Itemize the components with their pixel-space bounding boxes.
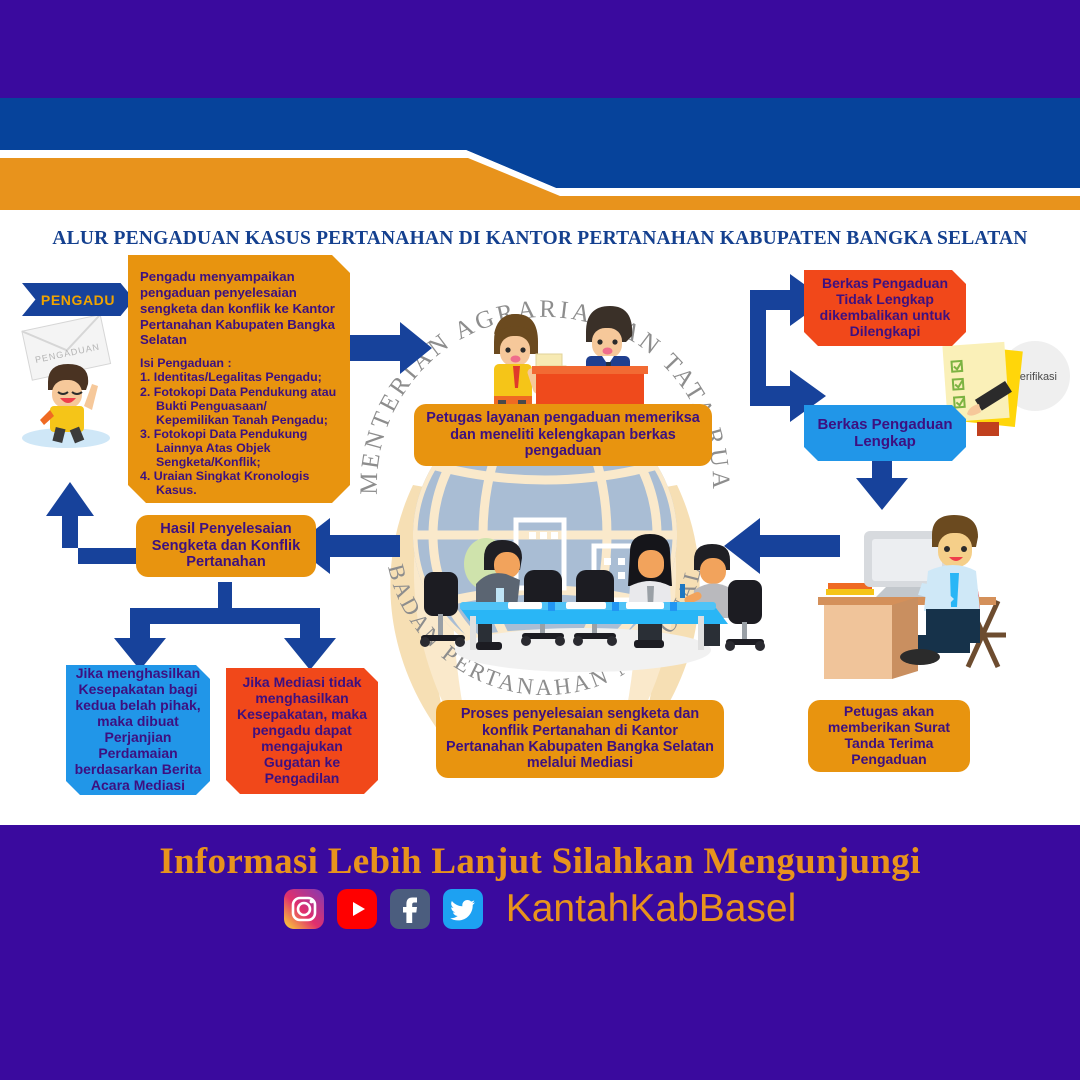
box-kesepakatan: Jika menghasilkan Kesepakatan bagi kedua…: [66, 665, 210, 795]
box-pengadu-list-item-1: 1. Identitas/Legalitas Pengadu;: [140, 370, 338, 384]
box-berkas-lengkap: Berkas Pengaduan Lengkap: [804, 405, 966, 461]
box-petugas-periksa: Petugas layanan pengaduan memeriksa dan …: [414, 404, 712, 466]
social-handle: KantahKabBasel: [506, 887, 797, 931]
box-pengadu-submit: Pengadu menyampaikan pengaduan penyelesa…: [128, 255, 350, 503]
box-pengadu-list-item-3: 3. Fotokopi Data Pendukung Lainnya Atas …: [140, 427, 338, 469]
youtube-icon[interactable]: [337, 889, 377, 929]
illustration-officer-desk: [800, 505, 1030, 685]
box-proses-mediasi: Proses penyelesaian sengketa dan konflik…: [436, 700, 724, 778]
box-berkas-tidak-lengkap: Berkas Pengaduan Tidak Lengkap dikembali…: [804, 270, 966, 346]
header-angled-bands: [0, 98, 1080, 226]
header-purple-band: [0, 0, 1080, 100]
illustration-mediation-meeting: [398, 502, 768, 682]
diagram-canvas: ALUR PENGADUAN KASUS PERTANAHAN DI KANTO…: [0, 210, 1080, 825]
box-pengadu-submit-list-title: Isi Pengaduan :: [140, 356, 338, 370]
box-tidak-kesepakatan: Jika Mediasi tidak menghasilkan Kesepaka…: [226, 668, 378, 794]
instagram-icon[interactable]: [284, 889, 324, 929]
box-petugas-surat: Petugas akan memberikan Surat Tanda Teri…: [808, 700, 970, 772]
twitter-icon[interactable]: [443, 889, 483, 929]
footer-title: Informasi Lebih Lanjut Silahkan Mengunju…: [159, 840, 920, 883]
box-pengadu-list-item-2: 2. Fotokopi Data Pendukung atau Bukti Pe…: [140, 385, 338, 427]
illustration-complainant: PENGADUAN: [8, 310, 128, 450]
box-pengadu-list-item-4: 4. Uraian Singkat Kronologis Kasus.: [140, 469, 338, 497]
box-hasil-penyelesaian: Hasil Penyelesaian Sengketa dan Konflik …: [136, 515, 316, 577]
facebook-icon[interactable]: [390, 889, 430, 929]
poster-root: ALUR PENGADUAN KASUS PERTANAHAN DI KANTO…: [0, 0, 1080, 1080]
pengadu-ribbon: PENGADU: [22, 283, 134, 316]
box-pengadu-submit-heading: Pengadu menyampaikan pengaduan penyelesa…: [140, 269, 338, 348]
footer-social-row: KantahKabBasel: [284, 887, 797, 931]
footer: Informasi Lebih Lanjut Silahkan Mengunju…: [0, 825, 1080, 945]
pengadu-ribbon-label: PENGADU: [41, 292, 115, 308]
